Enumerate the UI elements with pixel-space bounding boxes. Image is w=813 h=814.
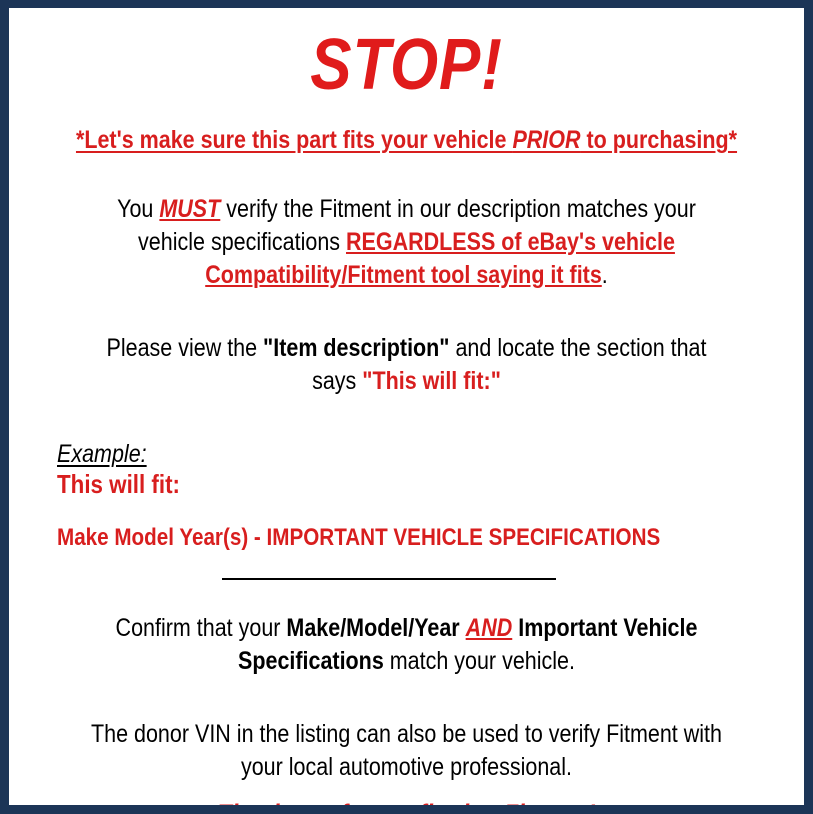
subtitle-banner: *Let's make sure this part fits your veh… [9, 127, 804, 155]
example-spec-row: Make Model Year(s) - IMPORTANT VEHICLE S… [57, 525, 804, 551]
this-will-fit-quote: "This will fit:" [362, 367, 501, 395]
view-paragraph-inner: Please view the "Item description" and l… [87, 332, 726, 398]
example-spec-line: Make Model Year(s) - IMPORTANT VEHICLE S… [57, 525, 699, 551]
make-model-year-label: Make/Model/Year [286, 614, 459, 642]
confirm-paragraph-inner: Confirm that your Make/Model/Year AND Im… [87, 612, 726, 678]
card-inner-surface: STOP! *Let's make sure this part fits yo… [9, 8, 804, 805]
subtitle-inner: *Let's make sure this part fits your veh… [65, 127, 749, 155]
example-block: Example: This will fit: Make Model Year(… [9, 440, 804, 552]
closing-thanks-line: Thank you for confirming Fitment! [9, 798, 804, 805]
must-paragraph-inner: You MUST verify the Fitment in our descr… [87, 193, 726, 292]
closing-thanks-text: Thank you for confirming Fitment! [65, 798, 749, 805]
subtitle-trail: to purchasing* [581, 126, 737, 154]
must-emphasis: MUST [159, 195, 220, 223]
view-description-paragraph: Please view the "Item description" and l… [9, 332, 804, 398]
subtitle-lead: *Let's make sure this part fits your veh… [76, 126, 512, 154]
vin-paragraph: The donor VIN in the listing can also be… [9, 718, 804, 784]
fitment-notice-card: STOP! *Let's make sure this part fits yo… [0, 0, 813, 814]
must-verify-paragraph: You MUST verify the Fitment in our descr… [9, 193, 804, 292]
page-title: STOP! [9, 29, 804, 101]
item-description-label: "Item description" [263, 334, 449, 362]
confirm-seg-1: Confirm that your [116, 614, 287, 642]
stop-heading-text: STOP! [65, 29, 749, 101]
view-seg-1: Please view the [106, 334, 263, 362]
example-fit-row: This will fit: [57, 470, 804, 499]
subtitle-emphasis-prior: PRIOR [512, 126, 580, 154]
vin-paragraph-text: The donor VIN in the listing can also be… [87, 718, 726, 784]
confirm-paragraph: Confirm that your Make/Model/Year AND Im… [9, 612, 804, 678]
confirm-seg-2: match your vehicle. [384, 647, 575, 675]
must-seg-1: You [117, 195, 159, 223]
section-divider [222, 578, 556, 580]
example-fit-heading: This will fit: [57, 470, 699, 499]
and-emphasis: AND [466, 614, 513, 642]
example-label: Example: [57, 440, 699, 468]
example-label-row: Example: [57, 440, 804, 468]
must-seg-3: . [602, 261, 608, 289]
